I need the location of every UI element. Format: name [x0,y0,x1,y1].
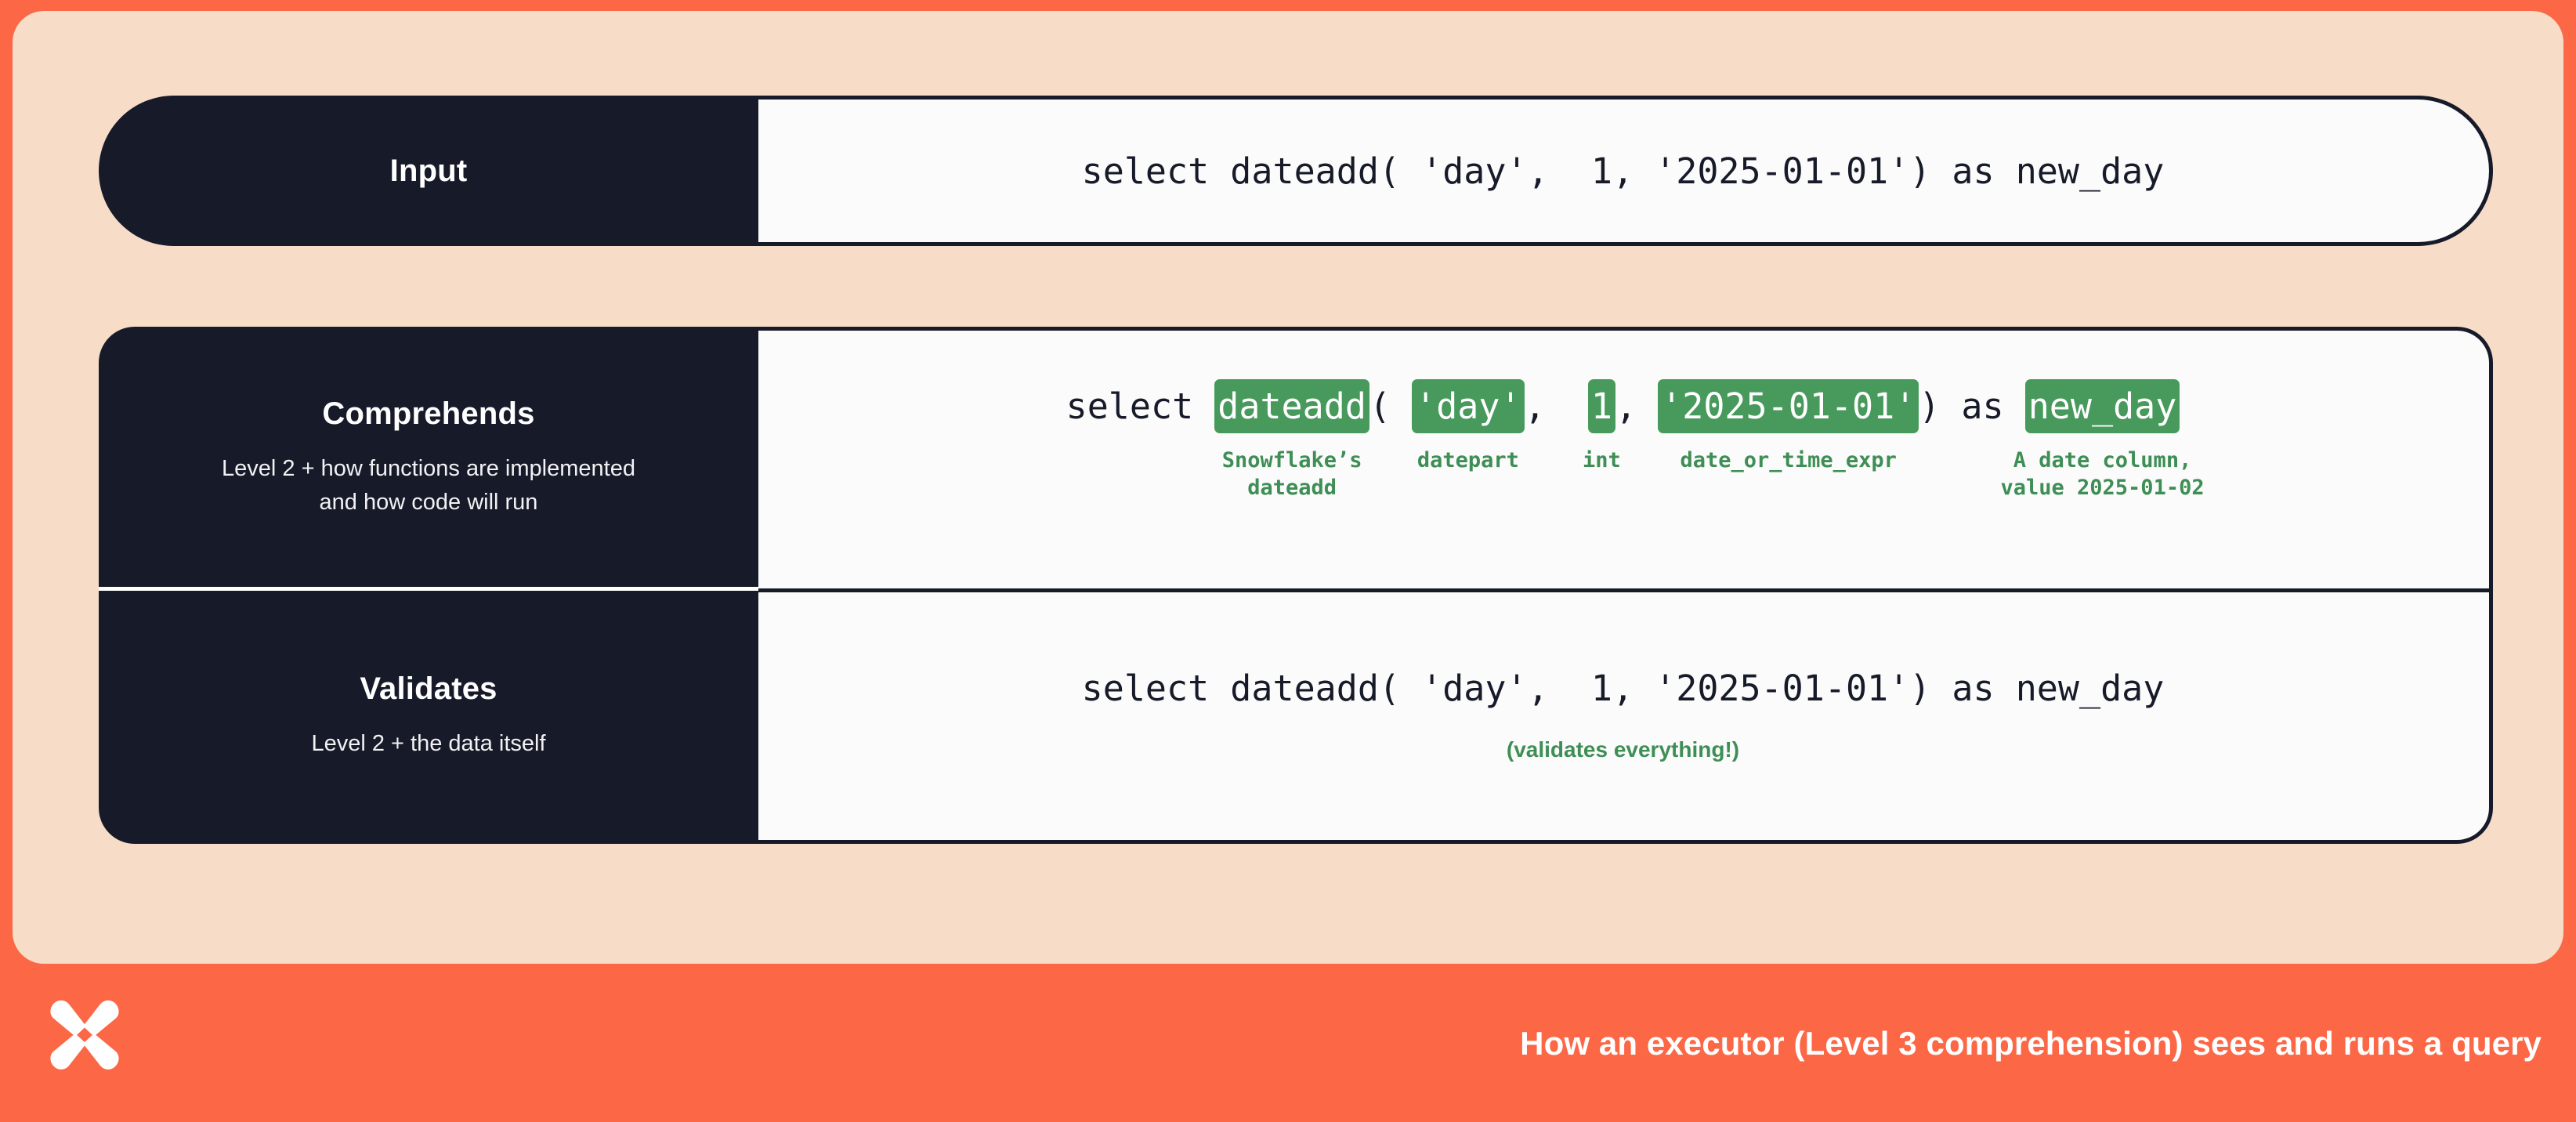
validates-code-cell: select dateadd( 'day', 1, '2025-01-01') … [757,588,2493,844]
validates-subtitle-line1: Level 2 + the data itself [311,727,545,760]
comprehends-title: Comprehends [322,396,534,432]
annotation-4-line1: A date column, [2001,447,2205,475]
annotation-2: int [1583,447,1621,475]
comprehends-subtitle-line1: Level 2 + how functions are implemented [222,452,635,485]
validates-note: (validates everything!) [1507,737,1739,762]
code-token-6: , [1615,389,1658,424]
code-token-highlight-1: dateadd [1214,379,1369,433]
table-row-validates: Validates Level 2 + the data itself sele… [99,588,2493,844]
annotation-0-line1: Snowflake’s [1222,447,1362,475]
comprehends-annotations: Snowflake’sdateadddatepartintdate_or_tim… [757,447,2489,540]
footer-bar: How an executor (Level 3 comprehension) … [0,965,2576,1122]
annotation-3-line1: date_or_time_expr [1681,447,1897,475]
input-row: Input select dateadd( 'day', 1, '2025-01… [99,96,2493,246]
row-divider [99,587,758,591]
validates-title: Validates [360,671,497,707]
annotation-4-line2: value 2025-01-02 [2001,475,2205,502]
validates-subtitle: Level 2 + the data itself [311,727,545,760]
annotation-1: datepart [1417,447,1519,475]
annotation-0: Snowflake’sdateadd [1222,447,1362,501]
comprehension-table: Comprehends Level 2 + how functions are … [99,327,2493,844]
annotation-4: A date column,value 2025-01-02 [2001,447,2205,501]
content-stage: Input select dateadd( 'day', 1, '2025-01… [13,11,2563,964]
validates-code-line: select dateadd( 'day', 1, '2025-01-01') … [1082,671,2165,706]
comprehends-code-cell: select dateadd( 'day', 1, '2025-01-01') … [757,327,2493,588]
code-token-highlight-3: 'day' [1412,379,1524,433]
validates-label-cell: Validates Level 2 + the data itself [99,588,758,844]
table-row-comprehends: Comprehends Level 2 + how functions are … [99,327,2493,588]
input-row-code: select dateadd( 'day', 1, '2025-01-01') … [757,96,2493,246]
code-token-highlight-7: '2025-01-01' [1658,379,1919,433]
annotation-0-line2: dateadd [1222,475,1362,502]
comprehends-code-line: select dateadd( 'day', 1, '2025-01-01') … [1066,379,2180,433]
comprehends-subtitle-line2: and how code will run [222,486,635,519]
input-row-label: Input [99,96,758,246]
annotation-1-line1: datepart [1417,447,1519,475]
poster-frame: Input select dateadd( 'day', 1, '2025-01… [0,0,2576,1122]
annotation-3: date_or_time_expr [1681,447,1897,475]
code-token-highlight-5: 1 [1588,379,1615,433]
code-token-0: select [1066,389,1215,424]
code-token-2: ( [1369,389,1412,424]
code-token-4: , [1525,389,1588,424]
footer-caption: How an executor (Level 3 comprehension) … [1520,1025,2542,1062]
x-mark-logo-icon [36,995,133,1092]
annotation-2-line1: int [1583,447,1621,475]
code-token-8: ) as [1919,389,2024,424]
code-token-highlight-9: new_day [2025,379,2180,433]
comprehends-subtitle: Level 2 + how functions are implemented … [222,452,635,518]
comprehends-label-cell: Comprehends Level 2 + how functions are … [99,327,758,588]
